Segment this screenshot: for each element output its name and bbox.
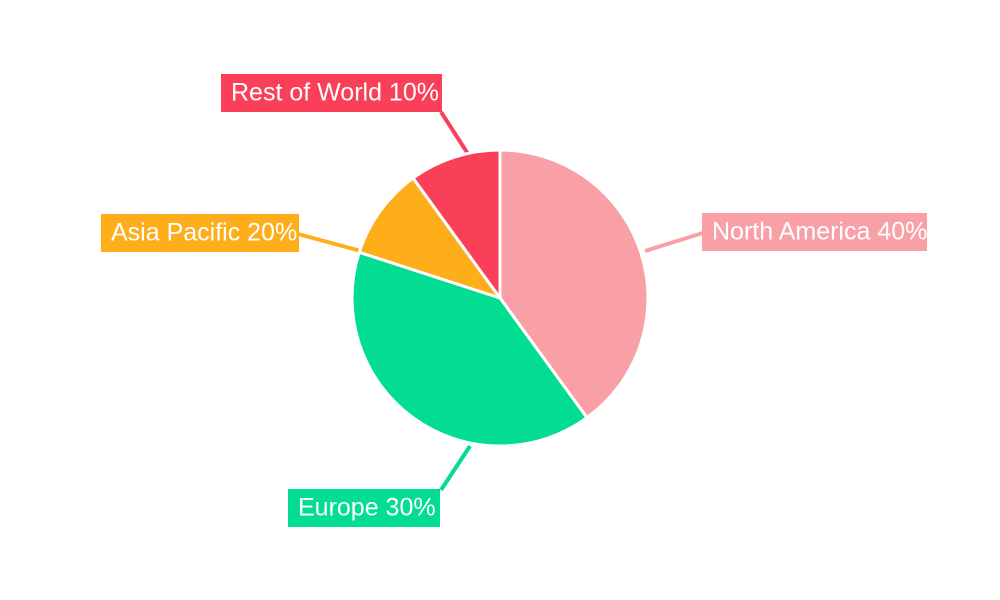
label-text-asia-pacific: Asia Pacific 20% bbox=[111, 219, 297, 247]
label-rest-of-world[interactable]: Rest of World 10% bbox=[221, 74, 442, 112]
pie-slices-group bbox=[352, 150, 648, 446]
label-north-america[interactable]: North America 40% bbox=[702, 213, 927, 251]
label-text-europe: Europe 30% bbox=[298, 494, 436, 522]
pie-chart-canvas: North America 40% Europe 30% Asia Pacifi… bbox=[0, 0, 1000, 600]
label-text-rest-of-world: Rest of World 10% bbox=[231, 79, 439, 107]
label-europe[interactable]: Europe 30% bbox=[288, 489, 440, 527]
label-asia-pacific[interactable]: Asia Pacific 20% bbox=[101, 214, 299, 252]
pie-chart-figure: North America 40% Europe 30% Asia Pacifi… bbox=[0, 0, 1000, 600]
label-text-north-america: North America 40% bbox=[712, 218, 927, 246]
